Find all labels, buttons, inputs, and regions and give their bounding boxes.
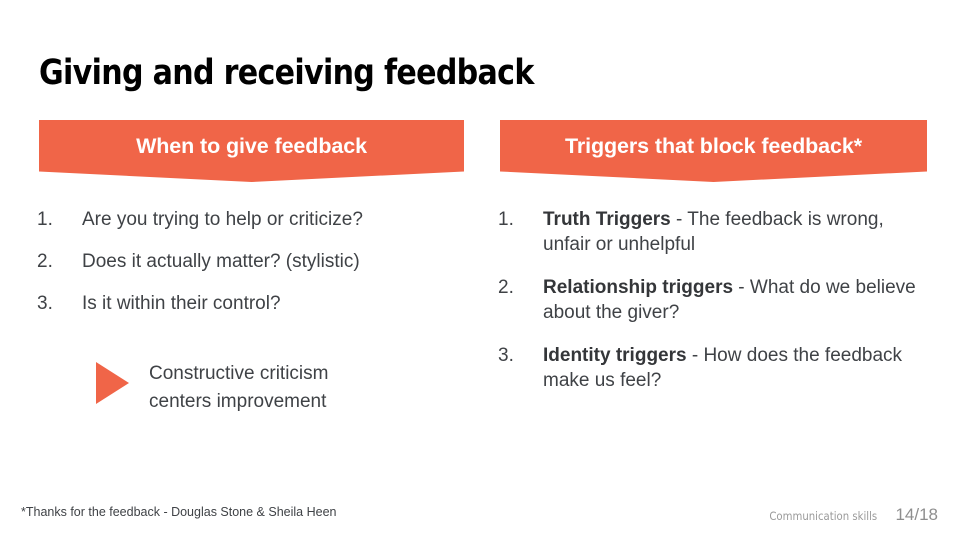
list-item-number: 1. bbox=[37, 207, 82, 232]
list-item-lead: Identity triggers bbox=[543, 345, 687, 366]
slide-footer: Communication skills 14/18 bbox=[762, 505, 938, 525]
list-item: 1. Truth Triggers - The feedback is wron… bbox=[498, 207, 918, 257]
list-triggers-that-block-feedback: 1. Truth Triggers - The feedback is wron… bbox=[498, 207, 918, 411]
list-item-text: Does it actually matter? (stylistic) bbox=[82, 249, 467, 274]
list-item: 2. Does it actually matter? (stylistic) bbox=[37, 249, 467, 274]
list-item: 3. Is it within their control? bbox=[37, 291, 467, 316]
page-title: Giving and receiving feedback bbox=[39, 52, 534, 94]
list-item-lead: Relationship triggers bbox=[543, 277, 733, 298]
list-item: 1. Are you trying to help or criticize? bbox=[37, 207, 467, 232]
list-item-body: Relationship triggers - What do we belie… bbox=[543, 275, 918, 325]
callout-text: Constructive criticism centers improveme… bbox=[149, 360, 328, 416]
banner-when-to-give-feedback: When to give feedback bbox=[39, 120, 464, 182]
footer-deck-name: Communication skills bbox=[769, 509, 877, 523]
banner-label: When to give feedback bbox=[136, 134, 367, 159]
list-when-to-give-feedback: 1. Are you trying to help or criticize? … bbox=[37, 207, 467, 333]
list-item-text: Are you trying to help or criticize? bbox=[82, 207, 467, 232]
callout-line-2: centers improvement bbox=[149, 391, 326, 412]
list-item-text: Is it within their control? bbox=[82, 291, 467, 316]
callout-line-1: Constructive criticism bbox=[149, 363, 328, 384]
list-item-body: Truth Triggers - The feedback is wrong, … bbox=[543, 207, 918, 257]
play-triangle-icon bbox=[96, 362, 129, 404]
footnote: *Thanks for the feedback - Douglas Stone… bbox=[21, 505, 336, 519]
list-item-number: 2. bbox=[37, 249, 82, 274]
list-item: 2. Relationship triggers - What do we be… bbox=[498, 275, 918, 325]
list-item-number: 3. bbox=[37, 291, 82, 316]
banner-label: Triggers that block feedback* bbox=[565, 134, 862, 159]
banner-triggers-that-block-feedback: Triggers that block feedback* bbox=[500, 120, 927, 182]
list-item-body: Identity triggers - How does the feedbac… bbox=[543, 343, 918, 393]
list-item-number: 1. bbox=[498, 207, 543, 232]
list-item-lead: Truth Triggers bbox=[543, 209, 671, 230]
list-item-number: 2. bbox=[498, 275, 543, 300]
slide: Giving and receiving feedback When to gi… bbox=[0, 0, 960, 540]
list-item-number: 3. bbox=[498, 343, 543, 368]
page-number: 14/18 bbox=[895, 505, 938, 525]
callout-constructive-criticism: Constructive criticism centers improveme… bbox=[96, 360, 328, 416]
list-item: 3. Identity triggers - How does the feed… bbox=[498, 343, 918, 393]
